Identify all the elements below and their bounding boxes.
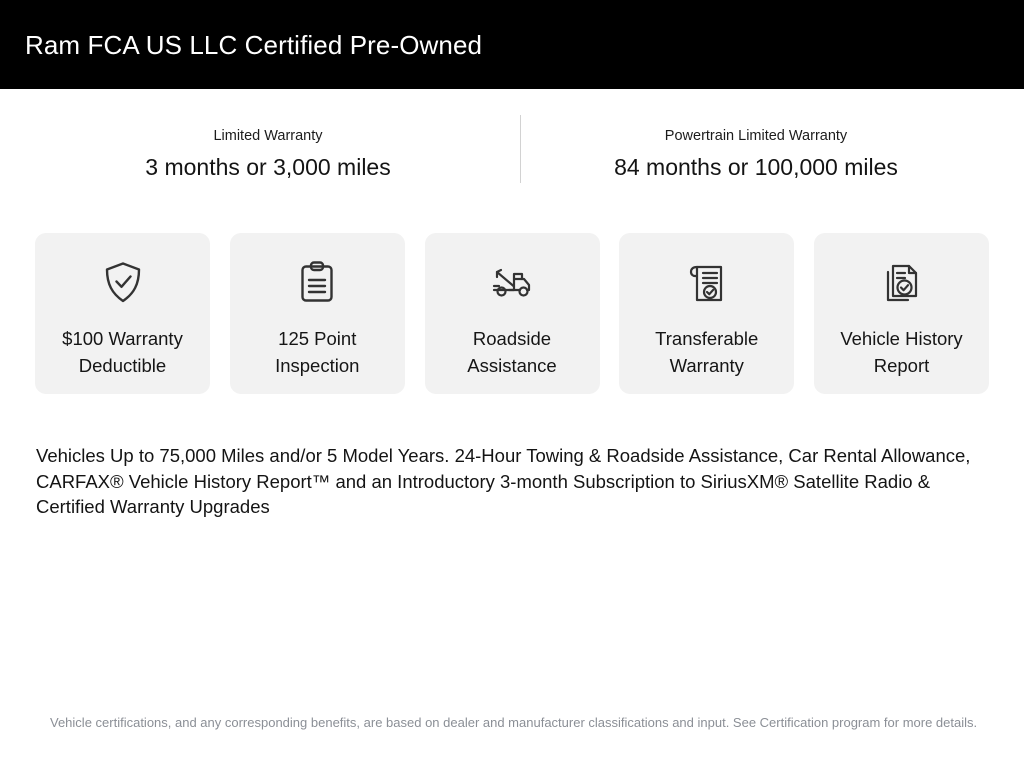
feature-card-label: Transferable Warranty (624, 325, 789, 379)
limited-warranty-label: Limited Warranty (40, 105, 496, 146)
feature-card-label: 125 Point Inspection (235, 325, 400, 379)
program-description: Vehicles Up to 75,000 Miles and/or 5 Mod… (36, 443, 991, 520)
feature-card-vehicle-history-report: Vehicle History Report (814, 233, 989, 394)
feature-card-transferable-warranty: Transferable Warranty (619, 233, 794, 394)
warranty-summary: Limited Warranty 3 months or 3,000 miles… (0, 105, 1024, 195)
feature-card-warranty-deductible: $100 Warranty Deductible (35, 233, 210, 394)
feature-card-list: $100 Warranty Deductible 125 Point Inspe… (35, 233, 989, 394)
shield-check-icon (95, 255, 151, 311)
tow-truck-icon (484, 255, 540, 311)
page-title: Ram FCA US LLC Certified Pre-Owned (25, 30, 482, 61)
feature-card-roadside-assistance: Roadside Assistance (425, 233, 600, 394)
feature-card-label: Roadside Assistance (430, 325, 595, 379)
feature-card-point-inspection: 125 Point Inspection (230, 233, 405, 394)
documents-check-icon (874, 255, 930, 311)
page-header: Ram FCA US LLC Certified Pre-Owned (0, 0, 1024, 89)
powertrain-warranty-value: 84 months or 100,000 miles (528, 146, 984, 182)
certificate-check-icon (679, 255, 735, 311)
warranty-divider (520, 115, 521, 183)
clipboard-icon (289, 255, 345, 311)
certified-preowned-page: Ram FCA US LLC Certified Pre-Owned Limit… (0, 0, 1024, 768)
feature-card-label: Vehicle History Report (819, 325, 984, 379)
powertrain-warranty-block: Powertrain Limited Warranty 84 months or… (528, 105, 984, 182)
limited-warranty-block: Limited Warranty 3 months or 3,000 miles (40, 105, 496, 182)
limited-warranty-value: 3 months or 3,000 miles (40, 146, 496, 182)
powertrain-warranty-label: Powertrain Limited Warranty (528, 105, 984, 146)
disclaimer-text: Vehicle certifications, and any correspo… (50, 713, 985, 732)
feature-card-label: $100 Warranty Deductible (40, 325, 205, 379)
